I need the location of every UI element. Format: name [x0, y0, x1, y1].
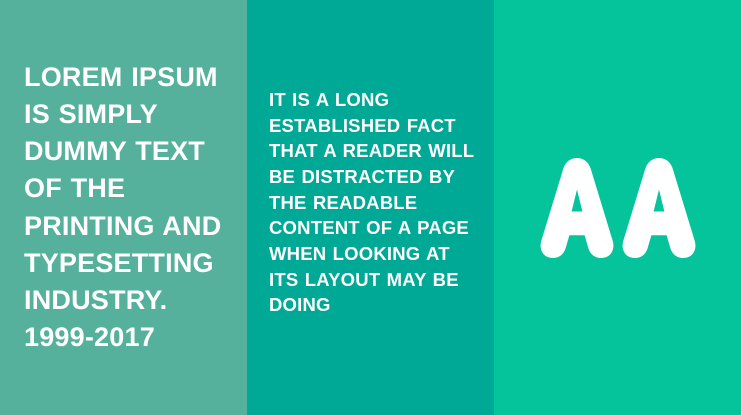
specimen-letter-a [620, 156, 698, 260]
body-text: IT IS A LONG ESTABLISHED FACT THAT A REA… [269, 87, 480, 318]
headline-panel: LOREM IPSUM IS SIMPLY DUMMY TEXT OF THE … [0, 0, 247, 415]
body-panel: IT IS A LONG ESTABLISHED FACT THAT A REA… [247, 0, 494, 415]
specimen-glyphs [538, 156, 698, 260]
specimen-letter-a [538, 156, 616, 260]
poster-canvas: LOREM IPSUM IS SIMPLY DUMMY TEXT OF THE … [0, 0, 741, 415]
specimen-panel [494, 0, 741, 415]
headline-text: LOREM IPSUM IS SIMPLY DUMMY TEXT OF THE … [24, 59, 225, 357]
